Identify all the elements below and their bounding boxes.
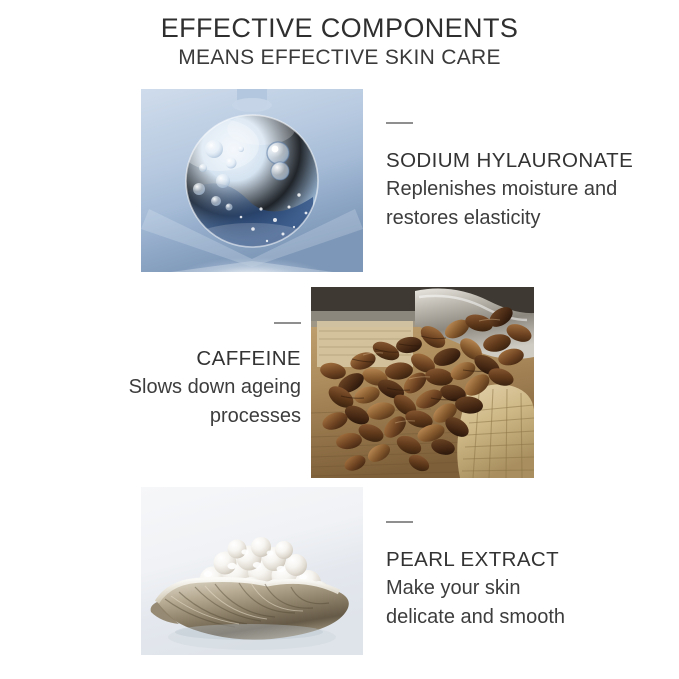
water-droplet-illustration: [141, 89, 363, 272]
coffee-beans-photo: [311, 287, 534, 478]
page-title: EFFECTIVE COMPONENTS MEANS EFFECTIVE SKI…: [0, 12, 679, 72]
coffee-beans-illustration: [311, 287, 534, 478]
divider-dash-pearl-extract: [386, 521, 413, 523]
description-line: processes: [40, 402, 301, 431]
ingredient-name-sodium-hylauronate: SODIUM HYLAURONATE: [386, 146, 666, 175]
description-line: delicate and smooth: [386, 603, 666, 632]
water-droplet-photo: [141, 89, 363, 272]
ingredient-description-sodium-hylauronate: Replenishes moisture and restores elasti…: [386, 175, 666, 233]
description-line: Make your skin: [386, 574, 666, 603]
pearl-oyster-photo: [141, 487, 363, 655]
ingredient-name-pearl-extract: PEARL EXTRACT: [386, 545, 666, 574]
divider-dash-caffeine: [274, 322, 301, 324]
pearl-oyster-illustration: [141, 487, 363, 655]
ingredient-name-caffeine: CAFFEINE: [40, 344, 301, 373]
divider-dash-sodium-hylauronate: [386, 122, 413, 124]
description-line: restores elasticity: [386, 204, 666, 233]
ingredient-text-sodium-hylauronate: SODIUM HYLAURONATE Replenishes moisture …: [386, 122, 666, 233]
page-title-line-1: EFFECTIVE COMPONENTS: [0, 12, 679, 44]
ingredient-text-pearl-extract: PEARL EXTRACT Make your skin delicate an…: [386, 521, 666, 632]
ingredient-text-caffeine: CAFFEINE Slows down ageing processes: [40, 322, 301, 431]
page-title-line-2: MEANS EFFECTIVE SKIN CARE: [0, 44, 679, 72]
ingredient-description-pearl-extract: Make your skin delicate and smooth: [386, 574, 666, 632]
description-line: Slows down ageing: [40, 373, 301, 402]
ingredient-description-caffeine: Slows down ageing processes: [40, 373, 301, 431]
description-line: Replenishes moisture and: [386, 175, 666, 204]
